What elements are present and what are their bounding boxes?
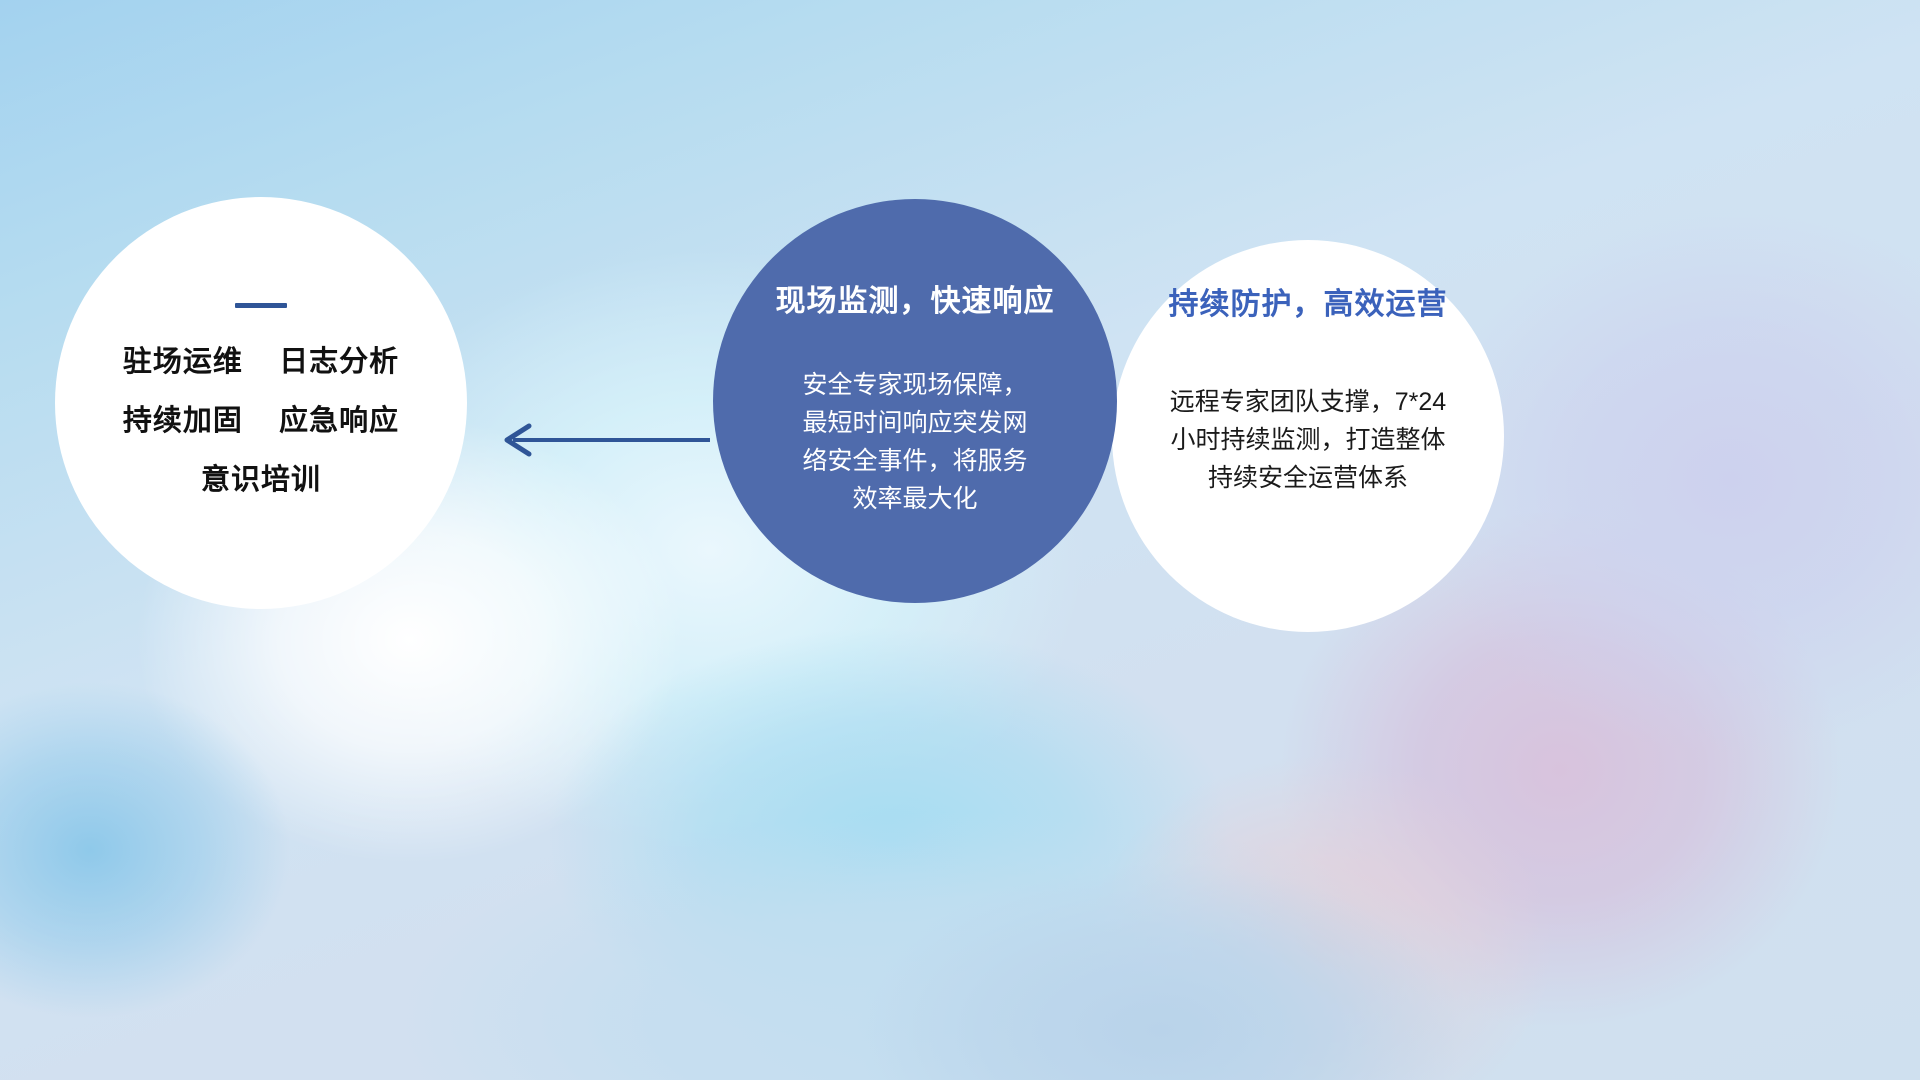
- continuous-protection-body: 远程专家团队支撑，7*24 小时持续监测，打造整体 持续安全运营体系: [1170, 383, 1446, 497]
- keywords-circle: 驻场运维 日志分析 持续加固 应急响应 意识培训: [55, 197, 467, 609]
- onsite-monitoring-title: 现场监测，快速响应: [776, 285, 1055, 320]
- left-arrow-icon: [495, 418, 710, 462]
- keyword-line-1: 驻场运维 日志分析: [123, 348, 399, 377]
- continuous-protection-title: 持续防护，高效运营: [1169, 288, 1448, 323]
- keyword-line-2: 持续加固 应急响应: [123, 407, 399, 436]
- keyword-line-3: 意识培训: [201, 466, 321, 495]
- slide-canvas: 驻场运维 日志分析 持续加固 应急响应 意识培训 持续防护，高效运营 远程专家团…: [0, 0, 1920, 1080]
- divider-dash-icon: [235, 303, 287, 308]
- onsite-monitoring-circle: 现场监测，快速响应 安全专家现场保障， 最短时间响应突发网 络安全事件，将服务 …: [713, 199, 1117, 603]
- background-glow-blue-bottomcenter: [780, 820, 1540, 1080]
- continuous-protection-circle: 持续防护，高效运营 远程专家团队支撑，7*24 小时持续监测，打造整体 持续安全…: [1112, 240, 1504, 632]
- onsite-monitoring-body: 安全专家现场保障， 最短时间响应突发网 络安全事件，将服务 效率最大化: [802, 366, 1027, 518]
- background-glow-blue-bottomleft: [0, 640, 340, 1060]
